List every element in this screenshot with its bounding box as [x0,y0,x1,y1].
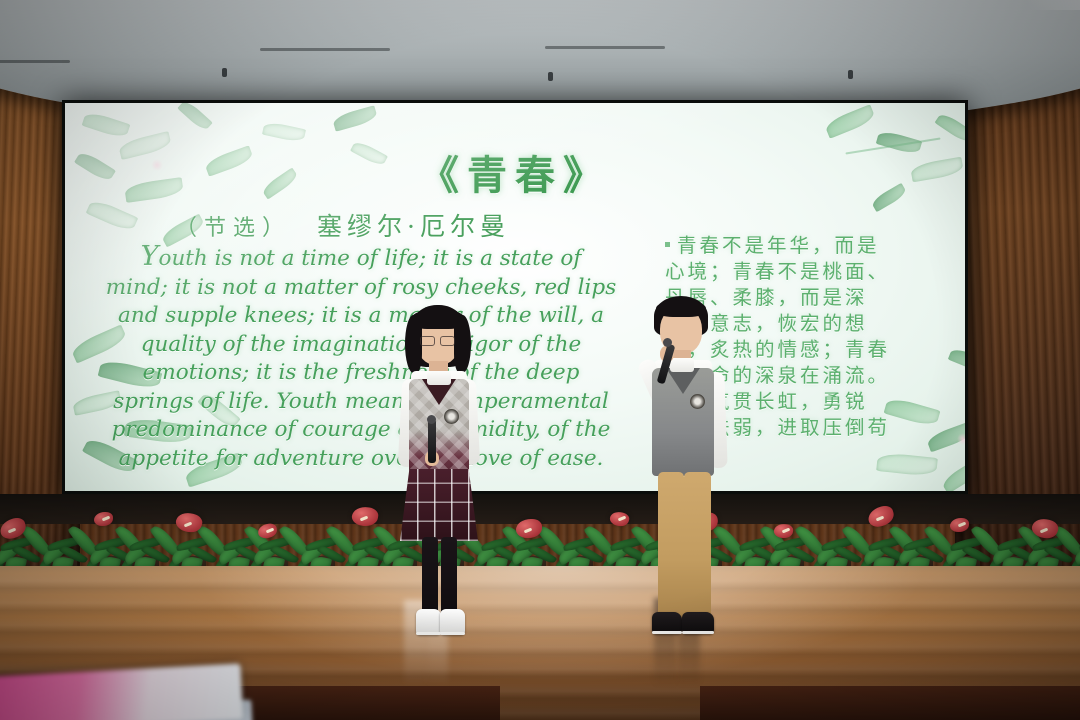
blossom-decoration [957,433,965,445]
school-crest-badge [444,409,459,424]
chinese-poem-line: 青春不是年华，而是 [665,233,945,259]
microphone[interactable] [428,419,436,463]
sneaker-sole-left [652,631,682,634]
english-poem-line: springs of life. Youth means a temperame… [91,388,631,417]
leaf-decoration [332,105,378,132]
collar [427,371,451,385]
collar [670,358,694,372]
english-poem-line: predominance of courage over timidity, o… [91,416,631,445]
leaf-decoration [824,104,877,138]
floor-reflection-sheen [180,566,940,686]
slide-english-poem: Youth is not a time of life; it is a sta… [91,243,631,473]
ceiling-spotlight [848,70,853,79]
english-poem-line: quality of the imagination, a vigor of t… [91,331,631,360]
ceiling-vent [0,60,70,63]
ceiling-vent [260,48,390,51]
ceiling-spotlight [548,72,553,81]
glasses-right-lens [440,336,455,346]
hair-fringe [411,309,465,329]
slide-excerpt-label: （节选） [175,216,291,241]
legging-right [441,537,457,615]
hair-fringe [656,300,706,317]
ceiling-spotlight [222,68,227,77]
led-screen-frame: 《青春》 （节选）塞缪尔·厄尔曼 Youth is not a time of … [62,100,968,494]
english-poem-line: and supple knees; it is a matter of the … [91,302,631,331]
leaf-decoration [935,111,965,145]
leaf-decoration [948,346,965,373]
ceiling-vent [545,46,665,49]
presentation-slide: 《青春》 （节选）塞缪尔·厄尔曼 Youth is not a time of … [65,103,965,491]
microphone-head [663,338,672,347]
leaf-decoration [86,198,139,234]
english-poem-line: appetite for adventure over the love of … [91,445,631,474]
student-right[interactable] [622,296,752,651]
leaf-decoration [262,121,306,143]
sneaker-sole-right [682,631,714,634]
school-crest-badge [690,394,705,409]
sneaker-sole-left [416,632,441,635]
bullet-marker [665,242,670,247]
english-poem-line: emotions; it is the freshness of the dee… [91,359,631,388]
stage-front-edge-right [700,686,1080,720]
microphone-head [427,415,436,424]
slide-author-name: 塞缪尔·厄尔曼 [317,212,510,241]
khaki-pants-left [658,472,684,618]
ceiling-glow-right [960,0,1080,10]
english-poem-line: mind; it is not a matter of rosy cheeks,… [91,274,631,303]
glasses-left-lens [420,336,435,346]
auditorium-scene: 《青春》 （节选）塞缪尔·厄尔曼 Youth is not a time of … [0,0,1080,720]
chinese-poem-line: 心境；青春不是桃面、 [665,259,945,285]
slide-title: 《青春》 [65,143,965,201]
leaf-decoration [82,110,131,139]
legging-left [422,537,438,615]
english-poem-line: Youth is not a time of life; it is a sta… [91,243,631,274]
student-left[interactable] [378,305,500,650]
leaf-decoration [177,103,212,132]
slide-author-line: （节选）塞缪尔·厄尔曼 [175,207,510,243]
plaid-skirt [400,469,478,541]
sneaker-sole-right [440,632,465,635]
khaki-pants-right [684,472,711,618]
